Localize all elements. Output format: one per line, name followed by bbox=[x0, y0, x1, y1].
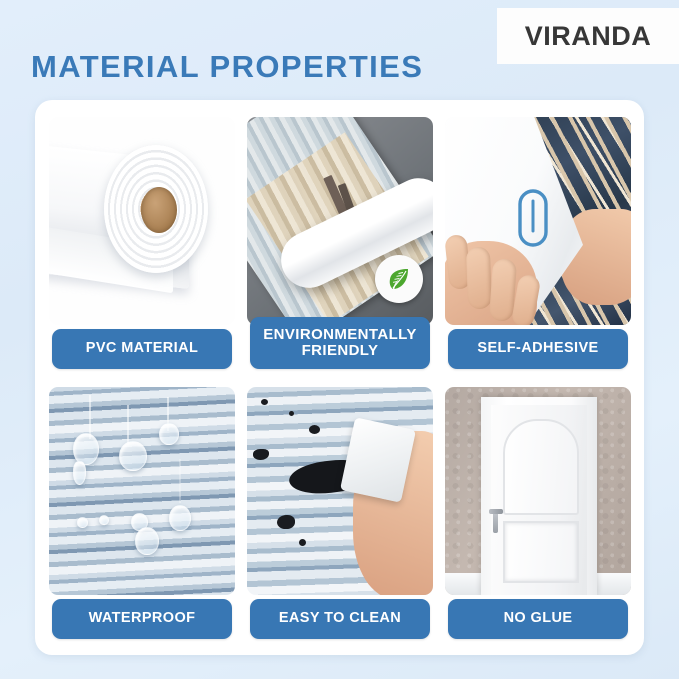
feature-card-pvc-material: PVC MATERIAL bbox=[49, 117, 235, 369]
feature-card-environmentally-friendly: ENVIRONMENTALLY FRIENDLY bbox=[247, 117, 433, 369]
wallpaper-roll-image bbox=[247, 117, 433, 325]
feature-banner-pvc-material: PVC MATERIAL bbox=[52, 329, 232, 369]
feature-card-no-glue: NO GLUE bbox=[445, 387, 631, 639]
eco-badge bbox=[375, 255, 423, 303]
infographic-page: VIRANDA MATERIAL PROPERTIES PVC MATERIAL bbox=[0, 0, 679, 679]
feature-banner-no-glue: NO GLUE bbox=[448, 599, 628, 639]
page-title: MATERIAL PROPERTIES bbox=[31, 49, 423, 85]
feature-label: SELF-ADHESIVE bbox=[477, 341, 598, 357]
feature-banner-self-adhesive: SELF-ADHESIVE bbox=[448, 329, 628, 369]
pvc-roll-image bbox=[49, 117, 235, 325]
easy-to-clean-image bbox=[247, 387, 433, 595]
door-image bbox=[445, 387, 631, 595]
feature-card-waterproof: WATERPROOF bbox=[49, 387, 235, 639]
feature-label: PVC MATERIAL bbox=[86, 341, 198, 357]
self-adhesive-image bbox=[445, 117, 631, 325]
leaf-icon bbox=[384, 264, 414, 294]
feature-label: ENVIRONMENTALLY FRIENDLY bbox=[263, 327, 417, 359]
feature-card-self-adhesive: SELF-ADHESIVE bbox=[445, 117, 631, 369]
feature-banner-easy-to-clean: EASY TO CLEAN bbox=[250, 599, 430, 639]
feature-banner-environmentally-friendly: ENVIRONMENTALLY FRIENDLY bbox=[250, 317, 430, 369]
feature-banner-waterproof: WATERPROOF bbox=[52, 599, 232, 639]
feature-label: NO GLUE bbox=[504, 611, 573, 627]
brand-logo: VIRANDA bbox=[497, 8, 679, 64]
paperclip-icon bbox=[513, 187, 553, 254]
feature-label: WATERPROOF bbox=[89, 611, 196, 627]
feature-card-easy-to-clean: EASY TO CLEAN bbox=[247, 387, 433, 639]
feature-grid: PVC MATERIAL bbox=[49, 117, 631, 639]
brand-name: VIRANDA bbox=[525, 21, 652, 52]
feature-label: EASY TO CLEAN bbox=[279, 611, 401, 627]
waterproof-image bbox=[49, 387, 235, 595]
